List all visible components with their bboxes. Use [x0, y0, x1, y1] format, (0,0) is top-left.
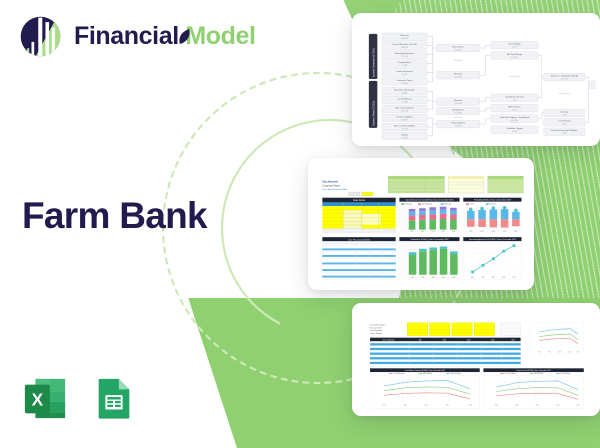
- svg-text:12.69: 12.69: [512, 110, 518, 112]
- page-title: Farm Bank: [22, 195, 207, 237]
- svg-text:37,210: 37,210: [401, 128, 408, 130]
- svg-text:multiplied by: multiplied by: [559, 92, 570, 95]
- svg-text:Total Debt / Equity + Total As: Total Debt / Equity + Total Assets: [500, 116, 530, 119]
- svg-text:20X4: 20X4: [556, 404, 559, 406]
- svg-text:divided by: divided by: [510, 122, 518, 124]
- svg-text:27,710: 27,710: [401, 56, 408, 58]
- svg-text:20X3: 20X3: [492, 231, 495, 233]
- screenshot-card-dashboard[interactable]: Dashboard Company Name Farm Bank Financi…: [308, 158, 534, 290]
- dupont-diagram-image: Income Statement ($ 000s) Balance Sheet …: [356, 17, 596, 142]
- svg-text:20X4: 20X4: [441, 231, 444, 233]
- svg-text:20X3: 20X3: [536, 404, 539, 406]
- svg-text:20X3: 20X3: [558, 352, 561, 354]
- svg-text:20X4: 20X4: [446, 404, 449, 406]
- svg-text:83,910: 83,910: [401, 111, 408, 113]
- svg-text:Dashboard: Dashboard: [322, 180, 338, 184]
- svg-text:Current Ratio: Current Ratio: [558, 120, 571, 123]
- svg-text:20X2: 20X2: [443, 339, 447, 341]
- svg-text:52,090: 52,090: [455, 126, 462, 128]
- svg-text:20X4: 20X4: [491, 339, 495, 341]
- svg-text:Capital Base ($ 000s) | Years: Capital Base ($ 000s) | Years to Decembe…: [410, 238, 449, 241]
- svg-text:20X2: 20X2: [481, 277, 484, 279]
- svg-text:Investment Appraisal Cash ($ 0: Investment Appraisal Cash ($ 000s) | Yea…: [469, 238, 517, 241]
- svg-text:27,430: 27,430: [401, 102, 408, 104]
- svg-text:125,400: 125,400: [454, 103, 463, 105]
- svg-text:Current Liabilities: Current Liabilities: [396, 115, 413, 118]
- brand-word-financial: Financial: [74, 22, 179, 50]
- svg-text:20X2: 20X2: [404, 404, 407, 406]
- svg-text:Liabilities / Equity: Liabilities / Equity: [507, 127, 524, 130]
- screenshot-card-reports[interactable]: Forecast Assumptions Revenue Growth Oper…: [352, 303, 600, 416]
- svg-text:20X3: 20X3: [492, 277, 495, 279]
- svg-text:multiplied by: multiplied by: [509, 75, 520, 78]
- svg-text:Interest Expense: Interest Expense: [396, 70, 413, 73]
- svg-text:Total Liabilities: Total Liabilities: [451, 122, 465, 125]
- svg-text:20X1: 20X1: [538, 352, 541, 354]
- svg-text:20X2: 20X2: [421, 231, 424, 233]
- svg-text:Capex / Revenue: Capex / Revenue: [370, 333, 382, 335]
- svg-text:111,340: 111,340: [454, 112, 462, 114]
- svg-text:X: X: [32, 390, 44, 410]
- svg-text:56,180: 56,180: [401, 47, 408, 49]
- svg-text:Financing: Financing: [444, 204, 451, 206]
- reports-image: Forecast Assumptions Revenue Growth Oper…: [356, 307, 596, 412]
- svg-text:Farm Bank Financial Model: Farm Bank Financial Model: [322, 188, 347, 191]
- svg-text:Company Name: Company Name: [322, 184, 340, 187]
- svg-text:20X3: 20X3: [431, 231, 434, 233]
- svg-text:4,127: 4,127: [402, 74, 408, 76]
- svg-text:20X2: 20X2: [515, 404, 518, 406]
- svg-text:Input Summary Overview ($ 000s: Input Summary Overview ($ 000s) | Years …: [405, 199, 454, 202]
- svg-text:20X5: 20X5: [452, 231, 455, 233]
- svg-text:20X1: 20X1: [469, 231, 472, 233]
- svg-text:Equity: Equity: [402, 133, 409, 136]
- svg-text:20X3: 20X3: [424, 404, 427, 406]
- svg-text:Total Assets: Total Assets: [452, 108, 464, 111]
- svg-text:divided by: divided by: [454, 117, 463, 119]
- excel-icon[interactable]: X: [22, 375, 68, 421]
- svg-text:Total Asset Turnover: Total Asset Turnover: [505, 95, 524, 98]
- circular-chart-leaf-logo-icon: [18, 14, 63, 59]
- svg-text:Gross Margin: Gross Margin: [508, 43, 520, 46]
- svg-text:Depreciation: Depreciation: [399, 61, 412, 64]
- svg-text:Accounts Receivable: Accounts Receivable: [395, 89, 416, 92]
- svg-text:20X3: 20X3: [467, 339, 471, 341]
- svg-text:20X4: 20X4: [503, 231, 506, 233]
- svg-text:20X2: 20X2: [421, 277, 424, 279]
- dashboard-image: Dashboard Company Name Farm Bank Financi…: [312, 162, 530, 286]
- svg-text:Financial Leverage Multiplier: Financial Leverage Multiplier: [551, 129, 577, 132]
- svg-text:125,400: 125,400: [454, 77, 463, 79]
- svg-text:Non Current Liabilities: Non Current Liabilities: [394, 124, 415, 127]
- svg-text:20,010: 20,010: [455, 49, 462, 51]
- brand-logo[interactable]: Financial Model: [18, 14, 256, 59]
- format-icons: X: [22, 375, 137, 421]
- svg-text:Operating Expenses: Operating Expenses: [395, 52, 415, 55]
- svg-text:59,250: 59,250: [401, 137, 408, 139]
- svg-text:Cost of Revenue (COGS): Cost of Revenue (COGS): [392, 43, 417, 46]
- svg-text:17.97%: 17.97%: [561, 79, 568, 81]
- svg-text:20X4: 20X4: [568, 352, 571, 354]
- svg-text:Core Financials ($ 000s): Core Financials ($ 000s): [348, 238, 371, 241]
- leaf-accent-icon: [178, 28, 191, 46]
- svg-text:Return on Total Assets (ROA): Return on Total Assets (ROA): [551, 75, 578, 78]
- svg-text:20X1: 20X1: [471, 277, 474, 279]
- svg-text:20X5: 20X5: [577, 404, 580, 406]
- poster-canvas: Financial Model Farm Bank X: [0, 0, 600, 448]
- svg-text:7,180: 7,180: [402, 65, 408, 67]
- svg-text:20X5: 20X5: [577, 352, 580, 354]
- svg-text:20X1: 20X1: [411, 277, 414, 279]
- svg-text:Balance Sheet ($ 000s): Balance Sheet ($ 000s): [372, 100, 375, 126]
- brand-wordmark: Financial Model: [74, 22, 256, 51]
- svg-text:20X4: 20X4: [442, 277, 445, 279]
- screenshot-card-diagram[interactable]: Income Statement ($ 000s) Balance Sheet …: [352, 13, 600, 146]
- svg-text:20X5: 20X5: [452, 277, 455, 279]
- svg-text:Revenue: Revenue: [400, 35, 409, 37]
- svg-text:20X1: 20X1: [495, 404, 498, 406]
- svg-text:20X4: 20X4: [502, 277, 505, 279]
- svg-text:Net Income: Net Income: [453, 45, 465, 48]
- svg-text:Net Profit Margin: Net Profit Margin: [507, 53, 522, 56]
- svg-text:Corporate Taxes: Corporate Taxes: [397, 79, 413, 82]
- google-sheets-icon[interactable]: [91, 375, 137, 421]
- svg-text:Profitability ($ 000s) | Years: Profitability ($ 000s) | Years to Decemb…: [474, 199, 512, 202]
- svg-text:15.96%: 15.96%: [511, 57, 518, 59]
- svg-text:125,400: 125,400: [401, 38, 410, 40]
- svg-text:A/R Turnover: A/R Turnover: [509, 106, 521, 109]
- svg-text:20X5: 20X5: [512, 277, 515, 279]
- svg-text:20X1: 20X1: [419, 339, 423, 341]
- svg-text:Non Current Assets: Non Current Assets: [395, 107, 414, 110]
- svg-text:Current Assets: Current Assets: [397, 98, 411, 101]
- svg-text:Revenue: Revenue: [454, 100, 463, 102]
- svg-text:Revenue: Revenue: [490, 204, 496, 206]
- svg-text:Case Inputs: Case Inputs: [353, 199, 366, 202]
- svg-text:20X1: 20X1: [382, 404, 385, 406]
- svg-text:20X3: 20X3: [432, 277, 435, 279]
- svg-text:Leverage: Leverage: [560, 110, 569, 113]
- svg-text:Revenue: Revenue: [454, 74, 463, 76]
- brand-word-model: Model: [185, 22, 255, 50]
- svg-text:divided by: divided by: [454, 60, 463, 62]
- svg-text:14,880: 14,880: [401, 119, 408, 121]
- svg-text:20X2: 20X2: [480, 231, 483, 233]
- svg-text:Income Statement ($ 000s): Income Statement ($ 000s): [372, 48, 375, 78]
- svg-text:20X5: 20X5: [469, 404, 472, 406]
- svg-text:55.2%: 55.2%: [512, 47, 518, 49]
- svg-text:20X5: 20X5: [511, 339, 515, 341]
- svg-text:20X5: 20X5: [514, 231, 517, 233]
- svg-text:20X1: 20X1: [410, 231, 413, 233]
- svg-text:20X2: 20X2: [548, 352, 551, 354]
- svg-text:9,880: 9,880: [402, 93, 408, 95]
- svg-text:10,233: 10,233: [401, 83, 408, 85]
